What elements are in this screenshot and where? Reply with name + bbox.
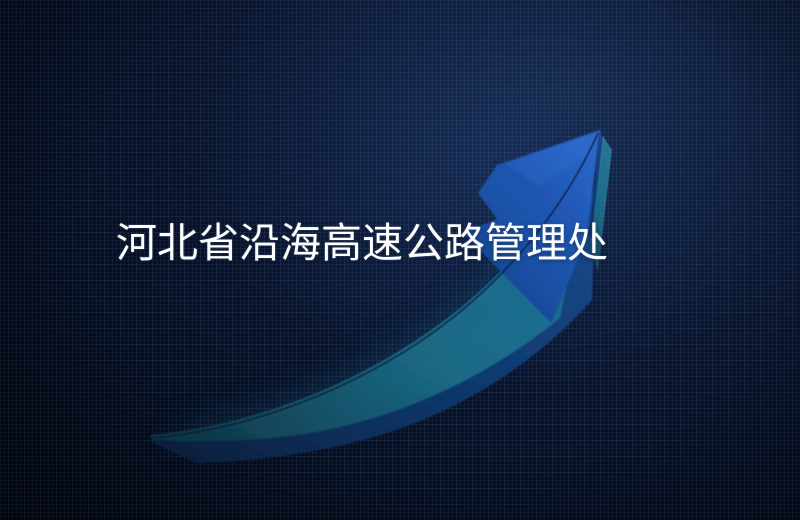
banner-root: 河北省沿海高速公路管理处 bbox=[0, 0, 800, 520]
page-title: 河北省沿海高速公路管理处 bbox=[0, 214, 800, 272]
